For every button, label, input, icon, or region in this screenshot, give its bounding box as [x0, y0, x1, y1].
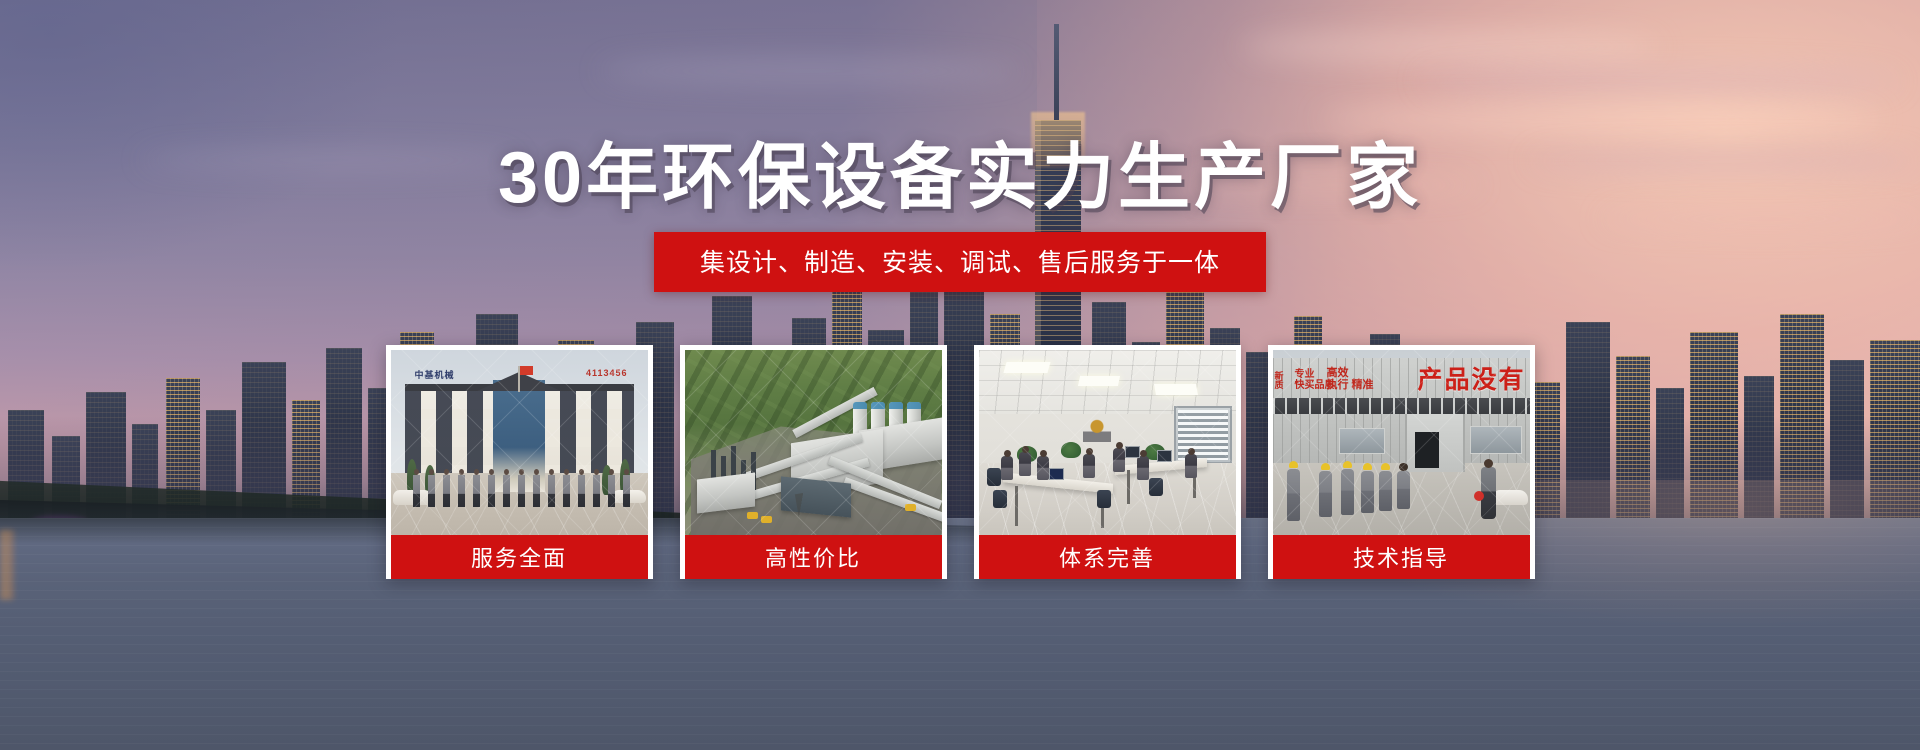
page-title: 30年环保设备实力生产厂家	[0, 118, 1920, 223]
industrial-plant-photo	[685, 350, 942, 535]
subtitle-badge: 集设计、制造、安装、调试、售后服务于一体	[654, 232, 1266, 292]
feature-card-list: 中基机械 4113456 服务全面	[0, 345, 1920, 579]
building-phone-text: 4113456	[586, 368, 628, 378]
office-interior-photo	[979, 350, 1236, 535]
feature-card[interactable]: 体系完善	[974, 345, 1241, 579]
feature-card-label: 服务全面	[391, 535, 648, 579]
staff-row	[413, 475, 630, 509]
company-building-photo: 中基机械 4113456	[391, 350, 648, 535]
factory-workers-photo: 产品没有 新质 专业快买品质 高效执行 精准	[1273, 350, 1530, 535]
flag-icon	[518, 366, 520, 392]
tower-spire	[1054, 24, 1059, 120]
feature-card[interactable]: 高性价比	[680, 345, 947, 579]
cloud	[600, 58, 1020, 84]
cloud	[1420, 68, 1900, 94]
factory-slogan-right: 高效执行 精准	[1327, 368, 1374, 391]
feature-card-label: 体系完善	[979, 535, 1236, 579]
wall-poster	[1083, 416, 1111, 442]
window-blinds	[1174, 406, 1232, 464]
factory-wall-sign: 产品没有	[1417, 360, 1525, 396]
feature-card[interactable]: 产品没有 新质 专业快买品质 高效执行 精准 技术指导	[1268, 345, 1535, 579]
building-sign-text: 中基机械	[415, 368, 455, 381]
feature-card-label: 高性价比	[685, 535, 942, 579]
feature-card-label: 技术指导	[1273, 535, 1530, 579]
hero-banner: 30年环保设备实力生产厂家 集设计、制造、安装、调试、售后服务于一体 中基机械 …	[0, 0, 1920, 750]
feature-card[interactable]: 中基机械 4113456 服务全面	[386, 345, 653, 579]
cloud	[1240, 30, 1660, 64]
factory-slogan-left: 新质	[1275, 372, 1284, 391]
subtitle-container: 集设计、制造、安装、调试、售后服务于一体	[0, 232, 1920, 292]
supervisor-figure	[1481, 467, 1496, 519]
